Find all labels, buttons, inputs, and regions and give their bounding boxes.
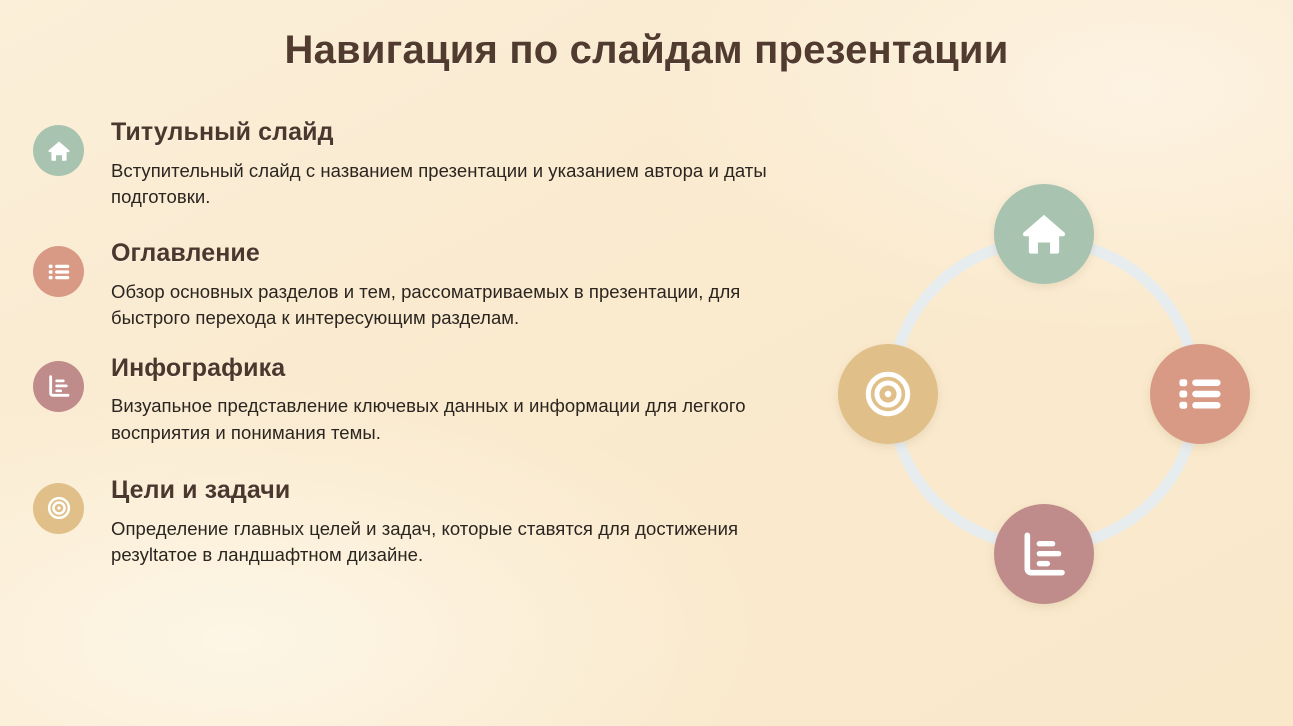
target-icon bbox=[33, 483, 84, 534]
list-item-description: Определение главных целей и задач, котор… bbox=[111, 516, 771, 569]
list-icon bbox=[33, 246, 84, 297]
list-item-heading: Цели и задачи bbox=[111, 476, 773, 505]
list-item[interactable]: Инфографика Визуапьное представление клю… bbox=[33, 354, 773, 446]
list-item[interactable]: Цели и задачи Определение главных целей … bbox=[33, 476, 773, 568]
diagram-node-list[interactable] bbox=[1150, 344, 1250, 444]
bar-chart-icon bbox=[1018, 528, 1070, 580]
bar-chart-icon bbox=[33, 361, 84, 412]
list-item-description: Обзор основных разделов и тем, рассоматр… bbox=[111, 279, 771, 332]
list-icon bbox=[1174, 368, 1226, 420]
navigation-list: Титульный слайд Вступительный слайд с на… bbox=[33, 118, 773, 568]
target-icon bbox=[862, 368, 914, 420]
page-title: Навигация по слайдам презентации bbox=[0, 28, 1293, 73]
list-item-description: Вступительный слайд с названием презента… bbox=[111, 158, 771, 211]
home-icon bbox=[33, 125, 84, 176]
home-icon bbox=[1018, 208, 1070, 260]
list-item[interactable]: Оглавление Обзор основных разделов и тем… bbox=[33, 239, 773, 331]
list-item-heading: Оглавление bbox=[111, 239, 773, 268]
diagram-node-target[interactable] bbox=[838, 344, 938, 444]
list-item-description: Визуапьное представление ключевых данных… bbox=[111, 393, 771, 446]
presentation-slide: Навигация по слайдам презентации Титульн… bbox=[0, 0, 1293, 726]
diagram-node-home[interactable] bbox=[994, 184, 1094, 284]
diagram-node-chart[interactable] bbox=[994, 504, 1094, 604]
list-item[interactable]: Титульный слайд Вступительный слайд с на… bbox=[33, 118, 773, 210]
list-item-heading: Инфографика bbox=[111, 354, 773, 383]
list-item-heading: Титульный слайд bbox=[111, 118, 773, 147]
circular-navigation-diagram bbox=[838, 188, 1250, 600]
